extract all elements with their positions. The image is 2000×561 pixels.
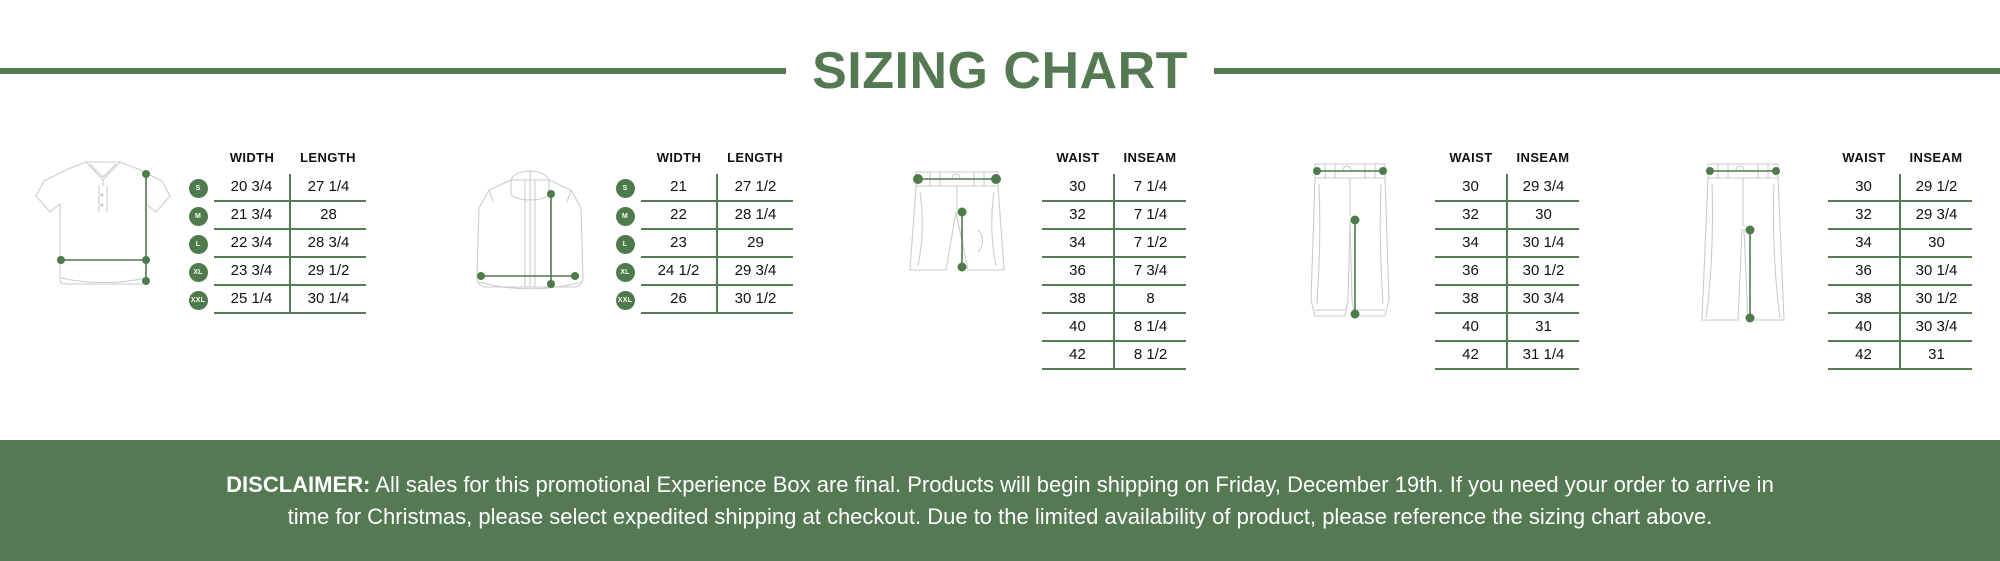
- cell-length: 30 1/2: [717, 285, 793, 313]
- cell-inseam: 30 1/2: [1507, 257, 1579, 285]
- table-row: 36 7 3/4: [1042, 257, 1186, 285]
- cell-inseam: 31: [1507, 313, 1579, 341]
- cell-waist: 34: [1828, 229, 1900, 257]
- cell-waist: 32: [1435, 201, 1507, 229]
- cell-width: 21: [641, 174, 717, 201]
- cell-waist: 32: [1828, 201, 1900, 229]
- disclaimer-banner: DISCLAIMER: All sales for this promotion…: [0, 440, 2000, 561]
- panel-pants: WAIST INSEAM 30 29 1/2 32 29 3/4 34: [1668, 150, 1972, 370]
- table-row: M 22 28 1/4: [615, 201, 793, 229]
- cell-inseam: 7 3/4: [1114, 257, 1186, 285]
- cell-inseam: 30 1/2: [1900, 285, 1972, 313]
- table-head: WAIST INSEAM: [1435, 150, 1579, 174]
- cell-length: 28 3/4: [290, 229, 366, 257]
- joggers-illustration: [1275, 150, 1425, 340]
- disclaimer-line-2: time for Christmas, please select expedi…: [288, 501, 1713, 532]
- page-title: SIZING CHART: [812, 41, 1188, 101]
- title-band: SIZING CHART: [0, 40, 2000, 102]
- table-row: S 20 3/4 27 1/4: [188, 174, 366, 201]
- table-row: 34 30: [1828, 229, 1972, 257]
- table-row: M 21 3/4 28: [188, 201, 366, 229]
- size-badge-cell: L: [188, 229, 214, 257]
- table-row: S 21 27 1/2: [615, 174, 793, 201]
- cell-width: 24 1/2: [641, 257, 717, 285]
- size-badge: XXL: [189, 291, 208, 310]
- size-badge: XXL: [616, 291, 635, 310]
- cell-inseam: 29 1/2: [1900, 174, 1972, 201]
- size-table-pants: WAIST INSEAM 30 29 1/2 32 29 3/4 34: [1828, 150, 1972, 370]
- cell-length: 29 1/2: [290, 257, 366, 285]
- size-table-polo: WIDTH LENGTH S 20 3/4 27 1/4 M 21 3/4 28: [188, 150, 366, 314]
- size-panels: WIDTH LENGTH S 20 3/4 27 1/4 M 21 3/4 28: [0, 150, 2000, 350]
- title-rule-left: [0, 68, 786, 74]
- cell-width: 25 1/4: [214, 285, 290, 313]
- cell-width: 21 3/4: [214, 201, 290, 229]
- table-row: 32 30: [1435, 201, 1579, 229]
- table-row: L 23 29: [615, 229, 793, 257]
- cell-width: 22 3/4: [214, 229, 290, 257]
- shorts-illustration: [882, 150, 1032, 340]
- cell-waist: 32: [1042, 201, 1114, 229]
- table-row: 30 7 1/4: [1042, 174, 1186, 201]
- sizing-chart-page: SIZING CHART: [0, 0, 2000, 561]
- cell-width: 23: [641, 229, 717, 257]
- column-header-width: WIDTH: [214, 150, 290, 174]
- cell-waist: 38: [1042, 285, 1114, 313]
- cell-length: 27 1/4: [290, 174, 366, 201]
- table-head: WAIST INSEAM: [1042, 150, 1186, 174]
- table-row: 42 31: [1828, 341, 1972, 369]
- cell-width: 22: [641, 201, 717, 229]
- pants-illustration: [1668, 150, 1818, 340]
- cell-inseam: 31 1/4: [1507, 341, 1579, 369]
- disclaimer-label: DISCLAIMER:: [226, 472, 370, 497]
- cell-inseam: 30 3/4: [1900, 313, 1972, 341]
- size-table-joggers: WAIST INSEAM 30 29 3/4 32 30 34: [1435, 150, 1579, 370]
- column-header-inseam: INSEAM: [1507, 150, 1579, 174]
- cell-inseam: 30: [1507, 201, 1579, 229]
- table-row: 32 29 3/4: [1828, 201, 1972, 229]
- cell-inseam: 8: [1114, 285, 1186, 313]
- vest-illustration: [455, 150, 605, 340]
- polo-shirt-illustration: [28, 150, 178, 340]
- title-rule-right: [1214, 68, 2000, 74]
- panel-polo: WIDTH LENGTH S 20 3/4 27 1/4 M 21 3/4 28: [28, 150, 366, 340]
- size-badge-cell: XXL: [188, 285, 214, 313]
- cell-waist: 38: [1435, 285, 1507, 313]
- table-row: 32 7 1/4: [1042, 201, 1186, 229]
- cell-inseam: 30 3/4: [1507, 285, 1579, 313]
- table-row: 30 29 1/2: [1828, 174, 1972, 201]
- column-header-waist: WAIST: [1828, 150, 1900, 174]
- cell-waist: 34: [1042, 229, 1114, 257]
- cell-waist: 40: [1042, 313, 1114, 341]
- cell-waist: 36: [1828, 257, 1900, 285]
- cell-inseam: 30 1/4: [1900, 257, 1972, 285]
- table-body: 30 7 1/4 32 7 1/4 34 7 1/2 36 7 3/4: [1042, 174, 1186, 369]
- size-badge-cell: M: [188, 201, 214, 229]
- cell-inseam: 30: [1900, 229, 1972, 257]
- cell-waist: 42: [1435, 341, 1507, 369]
- panel-vest: WIDTH LENGTH S 21 27 1/2 M 22 28 1/4: [455, 150, 793, 340]
- cell-waist: 30: [1435, 174, 1507, 201]
- table-row: 34 30 1/4: [1435, 229, 1579, 257]
- table-row: 40 30 3/4: [1828, 313, 1972, 341]
- cell-waist: 42: [1042, 341, 1114, 369]
- cell-length: 28: [290, 201, 366, 229]
- cell-waist: 36: [1435, 257, 1507, 285]
- table-row: 38 30 3/4: [1435, 285, 1579, 313]
- cell-waist: 42: [1828, 341, 1900, 369]
- cell-waist: 36: [1042, 257, 1114, 285]
- size-badge-column-header: [615, 150, 641, 174]
- cell-width: 26: [641, 285, 717, 313]
- cell-inseam: 29 3/4: [1507, 174, 1579, 201]
- cell-inseam: 31: [1900, 341, 1972, 369]
- cell-length: 27 1/2: [717, 174, 793, 201]
- cell-inseam: 7 1/4: [1114, 174, 1186, 201]
- column-header-width: WIDTH: [641, 150, 717, 174]
- panel-shorts: WAIST INSEAM 30 7 1/4 32 7 1/4 34: [882, 150, 1186, 370]
- table-row: 30 29 3/4: [1435, 174, 1579, 201]
- table-row: XXL 25 1/4 30 1/4: [188, 285, 366, 313]
- size-badge-cell: XXL: [615, 285, 641, 313]
- size-badge-cell: XL: [188, 257, 214, 285]
- column-header-length: LENGTH: [290, 150, 366, 174]
- size-badge: XL: [616, 263, 635, 282]
- cell-length: 30 1/4: [290, 285, 366, 313]
- table-row: 42 31 1/4: [1435, 341, 1579, 369]
- cell-inseam: 7 1/2: [1114, 229, 1186, 257]
- cell-width: 20 3/4: [214, 174, 290, 201]
- table-row: XL 24 1/2 29 3/4: [615, 257, 793, 285]
- cell-inseam: 7 1/4: [1114, 201, 1186, 229]
- size-badge: M: [189, 207, 208, 226]
- cell-waist: 38: [1828, 285, 1900, 313]
- cell-inseam: 30 1/4: [1507, 229, 1579, 257]
- table-body: 30 29 3/4 32 30 34 30 1/4 36 30 1/2: [1435, 174, 1579, 369]
- table-row: XL 23 3/4 29 1/2: [188, 257, 366, 285]
- size-badge: M: [616, 207, 635, 226]
- size-badge: L: [189, 235, 208, 254]
- table-head: WIDTH LENGTH: [615, 150, 793, 174]
- size-badge: XL: [189, 263, 208, 282]
- size-badge-cell: S: [615, 174, 641, 201]
- cell-inseam: 29 3/4: [1900, 201, 1972, 229]
- size-badge-cell: M: [615, 201, 641, 229]
- size-badge: L: [616, 235, 635, 254]
- cell-length: 29: [717, 229, 793, 257]
- cell-waist: 30: [1828, 174, 1900, 201]
- cell-waist: 34: [1435, 229, 1507, 257]
- table-row: 34 7 1/2: [1042, 229, 1186, 257]
- disclaimer-line-1: DISCLAIMER: All sales for this promotion…: [226, 469, 1774, 500]
- column-header-waist: WAIST: [1042, 150, 1114, 174]
- table-row: 36 30 1/4: [1828, 257, 1972, 285]
- table-row: 42 8 1/2: [1042, 341, 1186, 369]
- table-row: L 22 3/4 28 3/4: [188, 229, 366, 257]
- column-header-inseam: INSEAM: [1114, 150, 1186, 174]
- cell-waist: 30: [1042, 174, 1114, 201]
- size-badge-cell: L: [615, 229, 641, 257]
- table-body: S 20 3/4 27 1/4 M 21 3/4 28 L 22 3/4 28 …: [188, 174, 366, 313]
- table-row: 38 8: [1042, 285, 1186, 313]
- cell-waist: 40: [1828, 313, 1900, 341]
- table-head: WAIST INSEAM: [1828, 150, 1972, 174]
- size-badge-column-header: [188, 150, 214, 174]
- cell-inseam: 8 1/4: [1114, 313, 1186, 341]
- panel-joggers: WAIST INSEAM 30 29 3/4 32 30 34: [1275, 150, 1579, 370]
- disclaimer-text-1: All sales for this promotional Experienc…: [370, 472, 1773, 497]
- size-badge: S: [616, 179, 635, 198]
- column-header-waist: WAIST: [1435, 150, 1507, 174]
- column-header-inseam: INSEAM: [1900, 150, 1972, 174]
- table-row: 36 30 1/2: [1435, 257, 1579, 285]
- table-head: WIDTH LENGTH: [188, 150, 366, 174]
- table-body: S 21 27 1/2 M 22 28 1/4 L 23 29: [615, 174, 793, 313]
- table-row: 40 31: [1435, 313, 1579, 341]
- table-body: 30 29 1/2 32 29 3/4 34 30 36 30 1/4: [1828, 174, 1972, 369]
- cell-waist: 40: [1435, 313, 1507, 341]
- cell-length: 28 1/4: [717, 201, 793, 229]
- table-row: XXL 26 30 1/2: [615, 285, 793, 313]
- cell-length: 29 3/4: [717, 257, 793, 285]
- table-row: 38 30 1/2: [1828, 285, 1972, 313]
- table-row: 40 8 1/4: [1042, 313, 1186, 341]
- size-badge: S: [189, 179, 208, 198]
- size-table-shorts: WAIST INSEAM 30 7 1/4 32 7 1/4 34: [1042, 150, 1186, 370]
- cell-inseam: 8 1/2: [1114, 341, 1186, 369]
- cell-width: 23 3/4: [214, 257, 290, 285]
- size-badge-cell: XL: [615, 257, 641, 285]
- column-header-length: LENGTH: [717, 150, 793, 174]
- size-badge-cell: S: [188, 174, 214, 201]
- size-table-vest: WIDTH LENGTH S 21 27 1/2 M 22 28 1/4: [615, 150, 793, 314]
